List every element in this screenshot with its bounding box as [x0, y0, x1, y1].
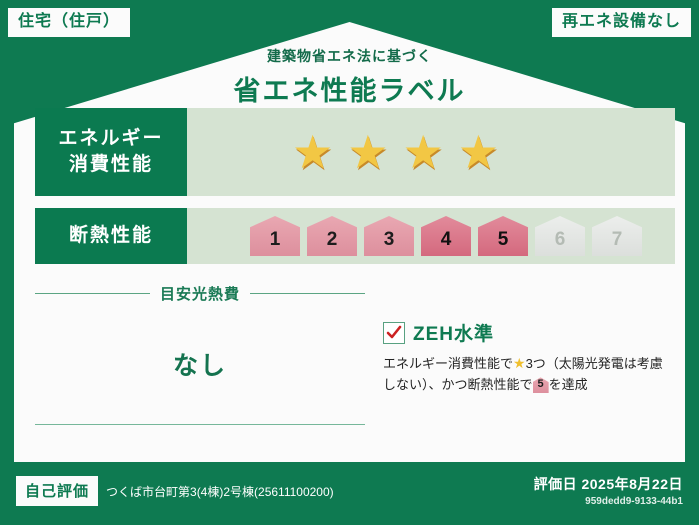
insulation-performance-row: 断熱性能 1234567 [35, 208, 675, 264]
insulation-performance-value: 1234567 [187, 208, 675, 264]
insulation-level-badge: 6 [535, 216, 585, 256]
inline-level-badge: 5 [533, 377, 549, 393]
energy-consumption-row: エネルギー 消費性能 ★★★★ [35, 108, 675, 196]
insulation-level-badge: 1 [250, 216, 300, 256]
evaluation-date-label: 評価日 [534, 476, 578, 492]
building-type-tag: 住宅（住戸） [8, 8, 130, 37]
page-title: 省エネ性能ラベル [0, 69, 699, 108]
energy-consumption-label: エネルギー 消費性能 [35, 108, 187, 196]
title-subtitle: 建築物省エネ法に基づく [0, 46, 699, 66]
star-icon: ★ [292, 129, 333, 175]
building-name: つくば市台町第3(4棟)2号棟(25611100200) [106, 483, 334, 500]
insulation-level-badge: 2 [307, 216, 357, 256]
heading-rule-left [35, 293, 150, 294]
star-icon: ★ [403, 129, 444, 175]
star-rating: ★★★★ [187, 129, 499, 175]
utility-cost-heading-text: 目安光熱費 [150, 283, 250, 304]
energy-performance-label: 住宅（住戸） 再エネ設備なし 建築物省エネ法に基づく 省エネ性能ラベル エネルギ… [0, 0, 699, 525]
insulation-performance-label: 断熱性能 [35, 208, 187, 264]
energy-label-line2: 消費性能 [69, 152, 153, 178]
title-block: 建築物省エネ法に基づく 省エネ性能ラベル [0, 46, 699, 108]
zeh-description: エネルギー消費性能で★3つ（太陽光発電は考慮しない）、かつ断熱性能で5を達成 [383, 353, 675, 395]
zeh-checkbox[interactable] [383, 322, 405, 344]
footer: 自己評価 つくば市台町第3(4棟)2号棟(25611100200) 評価日 20… [0, 462, 699, 525]
utility-cost-value: なし [35, 304, 365, 382]
energy-label-line1: エネルギー [58, 126, 163, 152]
energy-consumption-value: ★★★★ [187, 108, 675, 196]
inline-star-icon: ★ [513, 355, 526, 371]
evaluation-id: 959dedd9-9133-44b1 [534, 496, 683, 507]
lower-section: 目安光熱費 なし ZEH水準 エネルギー消費性能で★3つ（太陽光発電は考慮しない… [35, 283, 675, 425]
zeh-desc-part1: エネルギー消費性能で [383, 356, 513, 371]
footer-left: 自己評価 つくば市台町第3(4棟)2号棟(25611100200) [16, 476, 334, 506]
check-icon [386, 325, 402, 341]
utility-cost-block: 目安光熱費 なし [35, 283, 365, 425]
utility-cost-bottom-rule [35, 424, 365, 425]
star-icon: ★ [347, 129, 388, 175]
heading-rule-right [250, 293, 365, 294]
utility-cost-heading: 目安光熱費 [35, 283, 365, 304]
evaluation-date: 評価日 2025年8月22日 [534, 474, 683, 494]
insulation-level-scale: 1234567 [187, 216, 642, 256]
self-evaluation-badge: 自己評価 [16, 476, 98, 506]
renewable-equipment-tag: 再エネ設備なし [552, 8, 691, 37]
insulation-label-text: 断熱性能 [69, 223, 153, 249]
zeh-desc-part3: を達成 [549, 377, 588, 392]
insulation-level-badge: 4 [421, 216, 471, 256]
star-icon: ★ [458, 129, 499, 175]
zeh-title: ZEH水準 [413, 319, 494, 346]
performance-rows: エネルギー 消費性能 ★★★★ 断熱性能 1234567 [35, 108, 675, 276]
insulation-level-badge: 7 [592, 216, 642, 256]
insulation-level-badge: 5 [478, 216, 528, 256]
footer-right: 評価日 2025年8月22日 959dedd9-9133-44b1 [534, 474, 683, 507]
evaluation-date-value: 2025年8月22日 [581, 476, 683, 492]
insulation-level-badge: 3 [364, 216, 414, 256]
zeh-block: ZEH水準 エネルギー消費性能で★3つ（太陽光発電は考慮しない）、かつ断熱性能で… [365, 283, 675, 425]
zeh-title-line: ZEH水準 [383, 319, 675, 346]
